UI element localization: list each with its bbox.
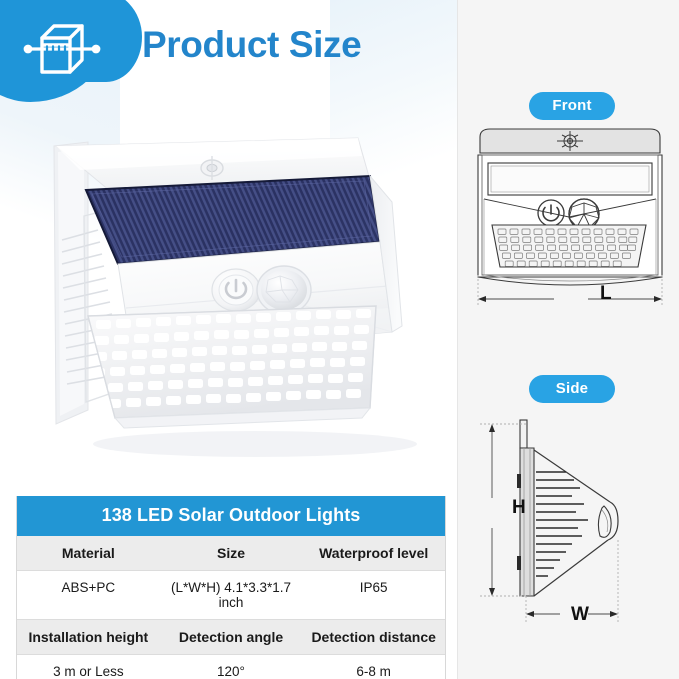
table-header-cell: Installation height [17, 620, 160, 654]
table-row: ABS+PC (L*W*H) 4.1*3.3*1.7 inch IP65 [17, 571, 445, 619]
table-row: Material Size Waterproof level [17, 536, 445, 570]
dimension-label-h: H [512, 497, 526, 519]
dimension-label-l: L [600, 283, 612, 305]
sensor-bulge [598, 506, 611, 537]
table-value-cell: 6-8 m [302, 655, 445, 679]
pir-motion-sensor [257, 266, 311, 314]
side-view-badge: Side [529, 375, 615, 403]
table-header-cell: Material [17, 536, 160, 570]
table-value-cell: ABS+PC [17, 571, 160, 619]
table-value-cell: 120° [160, 655, 303, 679]
spec-table: 138 LED Solar Outdoor Lights Material Si… [16, 496, 446, 679]
power-button [212, 269, 260, 311]
table-header-cell: Detection angle [160, 620, 303, 654]
table-header-cell: Size [160, 536, 303, 570]
spec-table-title: 138 LED Solar Outdoor Lights [17, 496, 445, 536]
front-view-badge: Front [529, 92, 615, 120]
table-row: 3 m or Less 120° 6-8 m [17, 655, 445, 679]
front-view-diagram [462, 125, 677, 315]
table-value-cell: 3 m or Less [17, 655, 160, 679]
table-value-cell: (L*W*H) 4.1*3.3*1.7 inch [160, 571, 303, 619]
page-title: Product Size [142, 24, 361, 66]
dimension-label-w: W [571, 604, 589, 626]
product-size-infographic: Product Size [0, 0, 679, 679]
panel-divider [457, 0, 458, 679]
box-dimension-icon [20, 12, 104, 88]
side-view-diagram [462, 410, 677, 630]
led-array-panel [86, 306, 376, 418]
table-row: Installation height Detection angle Dete… [17, 620, 445, 654]
table-header-cell: Waterproof level [302, 536, 445, 570]
table-value-cell: IP65 [302, 571, 445, 619]
table-header-cell: Detection distance [302, 620, 445, 654]
dimension-line-length [478, 275, 662, 307]
led-grid [492, 225, 646, 267]
solar-wall-light-photo [40, 118, 444, 466]
